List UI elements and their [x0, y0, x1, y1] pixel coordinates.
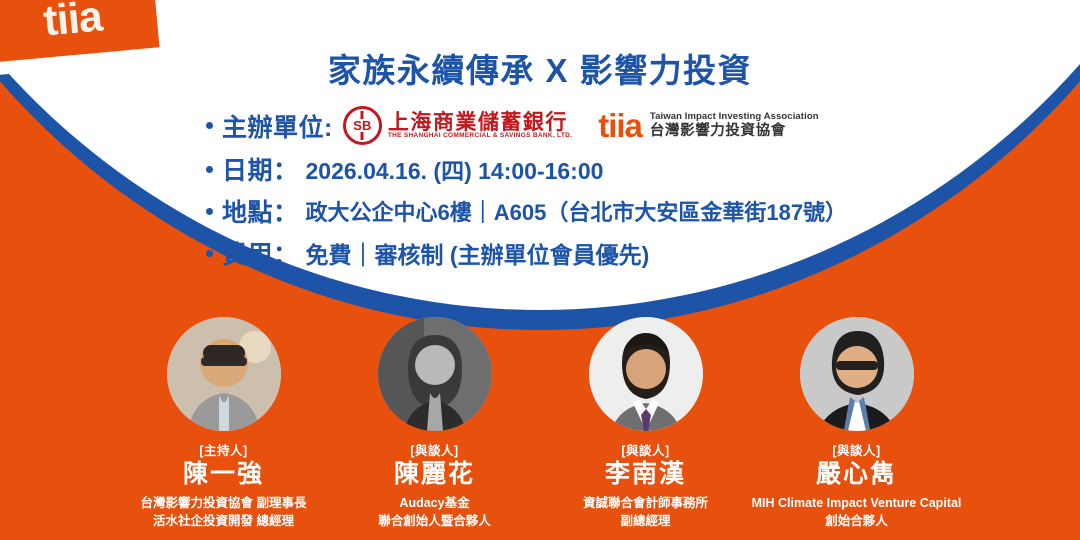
- bank-seal-monogram: SB: [352, 119, 372, 132]
- speaker-role: [與談人]: [832, 440, 880, 459]
- bank-name-block: 上海商業儲蓄銀行 THE SHANGHAI COMMERCIAL & SAVIN…: [388, 111, 572, 140]
- speaker-card: [與談人] 李南漢 資誠聯合會計師事務所 副總經理: [548, 317, 743, 530]
- bank-name-en: THE SHANGHAI COMMERCIAL & SAVINGS BANK, …: [388, 133, 572, 140]
- speaker-photo-li-nan-han: [589, 317, 703, 431]
- speaker-org-line-1: 資誠聯合會計師事務所: [583, 494, 708, 512]
- bullet-icon: [206, 166, 213, 173]
- info-label-venue: 地點：: [222, 193, 299, 229]
- tiia-association-logo: tiia Taiwan Impact Investing Association…: [598, 109, 818, 142]
- info-label-fee: 費用：: [222, 235, 299, 271]
- info-value-venue: 政大公企中心6樓｜A605（台北市大安區金華街187號）: [306, 195, 848, 227]
- event-info-list: 主辦單位: SB 上海商業儲蓄銀行 THE SHANGHAI COMMERCIA…: [206, 106, 847, 277]
- speaker-org-line-1: Audacy基金: [399, 494, 469, 512]
- info-label-date: 日期：: [222, 151, 299, 187]
- bullet-icon: [206, 250, 213, 257]
- bank-seal-icon: SB: [343, 106, 382, 145]
- info-value-fee: 免費｜審核制 (主辦單位會員優先): [306, 236, 650, 270]
- speaker-name: 嚴心雋: [816, 460, 897, 489]
- info-row-fee: 費用： 免費｜審核制 (主辦單位會員優先): [206, 235, 847, 271]
- page-title: 家族永續傳承 X 影響力投資: [0, 44, 1080, 92]
- info-label-organizer: 主辦單位:: [222, 108, 333, 144]
- event-poster: tiia 家族永續傳承 X 影響力投資 主辦單位: SB 上海商業儲蓄銀行 TH…: [0, 0, 1080, 540]
- speaker-card: [主持人] 陳一強 台灣影響力投資協會 副理事長 活水社企投資開發 總經理: [126, 317, 321, 530]
- speaker-org-line-1: 台灣影響力投資協會 副理事長: [141, 494, 307, 512]
- speaker-card: [與談人] 陳麗花 Audacy基金 聯合創始人暨合夥人: [337, 317, 532, 530]
- speaker-org-line-2: 副總經理: [620, 512, 670, 530]
- info-value-date: 2026.04.16. (四) 14:00-16:00: [306, 152, 604, 186]
- bullet-icon: [206, 208, 213, 215]
- info-row-organizer: 主辦單位: SB 上海商業儲蓄銀行 THE SHANGHAI COMMERCIA…: [206, 106, 847, 145]
- speaker-org-line-1: MIH Climate Impact Venture Capital: [752, 494, 962, 512]
- speaker-role: [與談人]: [621, 440, 669, 459]
- speaker-org-line-2: 活水社企投資開發 總經理: [153, 512, 294, 530]
- tiia-association-name-block: Taiwan Impact Investing Association 台灣影響…: [650, 112, 819, 140]
- speaker-list: [主持人] 陳一強 台灣影響力投資協會 副理事長 活水社企投資開發 總經理 [與…: [0, 317, 1080, 530]
- tiia-name-cn: 台灣影響力投資協會: [650, 123, 819, 140]
- speaker-name: 陳麗花: [394, 460, 475, 489]
- speaker-org-line-2: 聯合創始人暨合夥人: [378, 512, 491, 530]
- bullet-icon: [206, 122, 213, 129]
- shanghai-bank-logo: SB 上海商業儲蓄銀行 THE SHANGHAI COMMERCIAL & SA…: [343, 106, 572, 145]
- speaker-org-line-2: 創始合夥人: [825, 512, 888, 530]
- speaker-role: [與談人]: [410, 440, 458, 459]
- speaker-name: 陳一強: [183, 460, 264, 489]
- tiia-wordmark: tiia: [598, 109, 642, 142]
- tiia-name-en: Taiwan Impact Investing Association: [650, 112, 819, 123]
- info-row-venue: 地點： 政大公企中心6樓｜A605（台北市大安區金華街187號）: [206, 193, 847, 229]
- speaker-photo-chen-i-chiang: [167, 317, 281, 431]
- bank-name-cn: 上海商業儲蓄銀行: [388, 111, 572, 133]
- speaker-photo-yen-hsin-chun: [800, 317, 914, 431]
- speaker-card: [與談人] 嚴心雋 MIH Climate Impact Venture Cap…: [759, 317, 954, 530]
- speaker-name: 李南漢: [605, 460, 686, 489]
- info-row-date: 日期： 2026.04.16. (四) 14:00-16:00: [206, 151, 847, 187]
- speaker-photo-chen-li-hua: [378, 317, 492, 431]
- speaker-role: [主持人]: [199, 440, 247, 459]
- tiia-logo-text: tiia: [19, 0, 104, 45]
